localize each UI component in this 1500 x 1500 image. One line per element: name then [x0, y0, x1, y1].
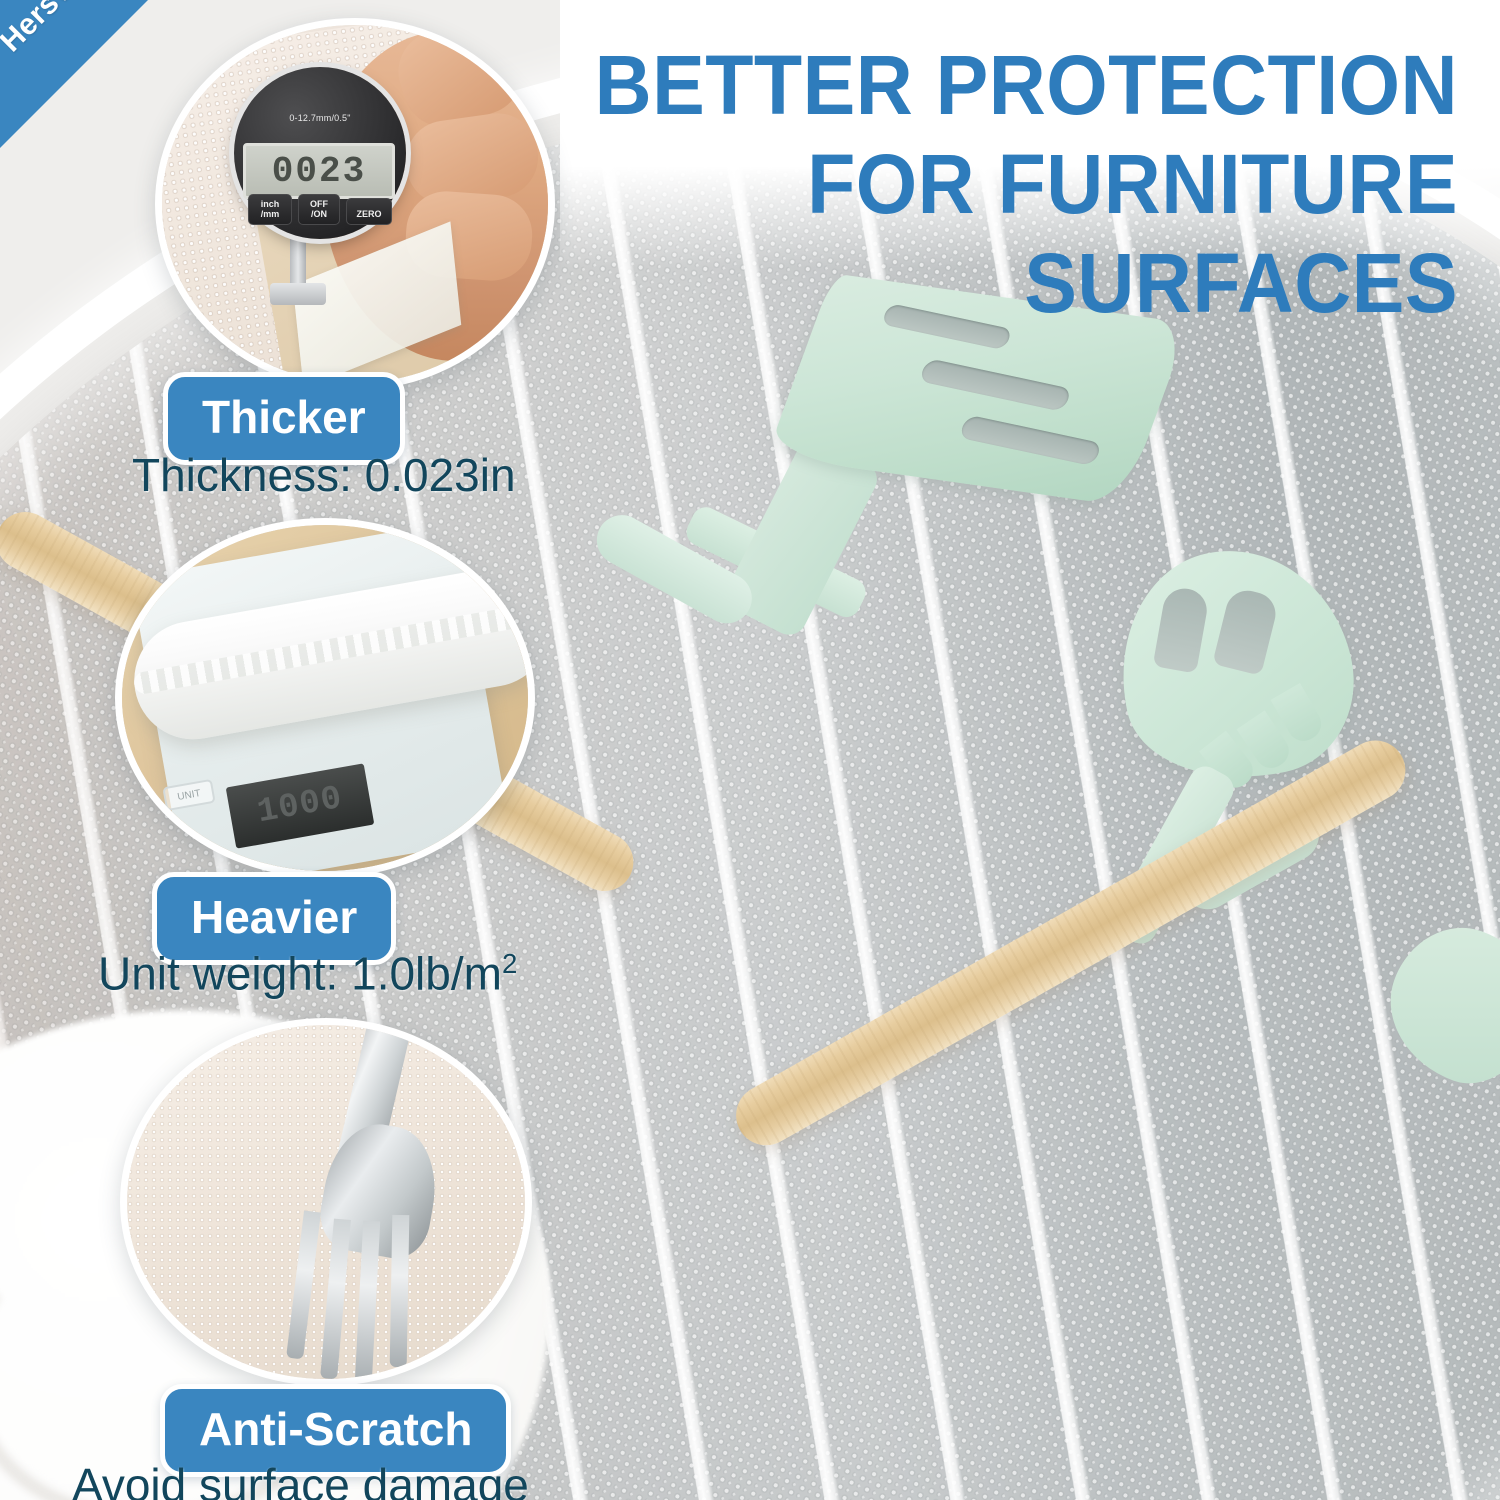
gauge-body: 0-12.7mm/0.5" 0023 inch/mm OFF/ON ZERO: [234, 67, 406, 239]
fork-tine: [390, 1215, 410, 1367]
turner-slot: [918, 358, 1073, 412]
gauge-power-button[interactable]: OFF/ON: [298, 194, 340, 225]
caption-unit-weight-exponent: 2: [502, 948, 517, 979]
page-title: BETTER PROTECTION FOR FURNITURE SURFACES: [478, 36, 1458, 333]
product-marketing-image: Hersvin BETTER PROTECTION FOR FURNITURE …: [0, 0, 1500, 1500]
gauge-probe-foot: [270, 283, 326, 305]
pasta-server-hole: [1212, 586, 1280, 676]
fork-tine: [320, 1219, 351, 1380]
caption-avoid-damage: Avoid surface damage: [72, 1462, 529, 1500]
gauge-zero-button[interactable]: ZERO: [346, 198, 392, 225]
fork-tine: [286, 1211, 321, 1360]
gauge-probe-stem: [290, 233, 306, 289]
scale-display-value: 1000: [255, 780, 346, 832]
pasta-server-hole: [1153, 585, 1211, 673]
turner-slot: [958, 415, 1103, 467]
headline-line-1: BETTER PROTECTION: [537, 36, 1458, 135]
gauge-lcd: 0023: [243, 143, 395, 199]
caption-unit-weight-text: Unit weight: 1.0lb/m: [98, 947, 502, 999]
headline-line-2: FOR FURNITURE: [537, 135, 1458, 234]
digital-kitchen-scale-photo: UNIT 1000: [115, 518, 535, 878]
fork-on-protector-photo: [120, 1018, 532, 1386]
caption-thickness: Thickness: 0.023in: [132, 452, 516, 498]
headline-line-3: SURFACES: [537, 234, 1458, 333]
fork-scene: [127, 1025, 525, 1379]
gauge-inch-mm-button[interactable]: inch/mm: [248, 194, 292, 225]
gauge-range-label: 0-12.7mm/0.5": [242, 113, 398, 123]
caption-unit-weight: Unit weight: 1.0lb/m2: [98, 950, 517, 996]
gauge-display-value: 0023: [272, 151, 366, 192]
scale-scene: UNIT 1000: [122, 525, 528, 871]
